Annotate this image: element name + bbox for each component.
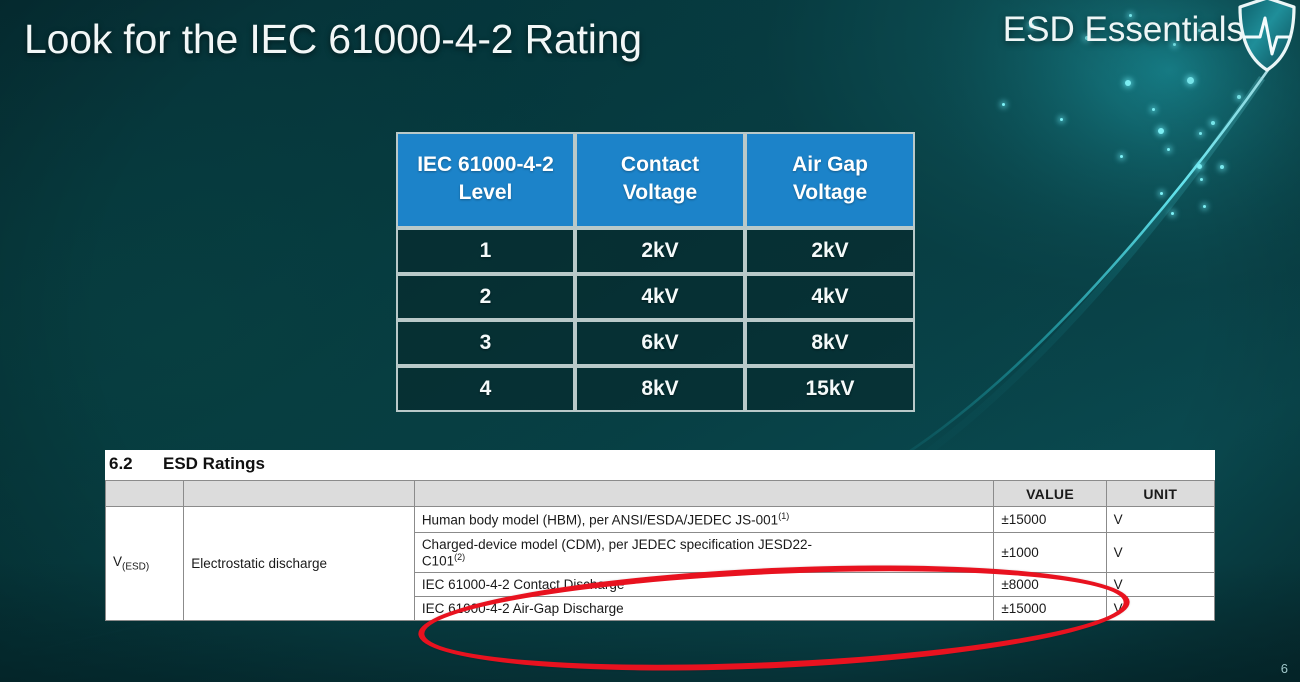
header-cell-level: IEC 61000-4-2 Level <box>396 132 575 228</box>
cell-condition: IEC 61000-4-2 Air-Gap Discharge <box>414 597 994 621</box>
cell-level: 2 <box>396 274 575 320</box>
condition-text: Charged-device model (CDM), per JEDEC sp… <box>422 537 812 552</box>
cell-symbol: V(ESD) <box>106 507 184 621</box>
shield-pulse-icon <box>1236 0 1298 74</box>
esd-ratings-table: VALUE UNIT V(ESD) Electrostatic discharg… <box>105 480 1215 621</box>
cell-unit: V <box>1106 597 1214 621</box>
symbol-subscript: (ESD) <box>122 562 149 573</box>
condition-text: Human body model (HBM), per ANSI/ESDA/JE… <box>422 513 778 528</box>
cell-level: 4 <box>396 366 575 412</box>
cell-air-gap-voltage: 2kV <box>745 228 915 274</box>
table-row: 2 4kV 4kV <box>396 274 915 320</box>
cell-contact-voltage: 4kV <box>575 274 745 320</box>
cell-contact-voltage: 2kV <box>575 228 745 274</box>
cell-condition: Charged-device model (CDM), per JEDEC sp… <box>414 532 994 573</box>
condition-footnote: (1) <box>778 511 789 521</box>
header-cell-unit: UNIT <box>1106 481 1214 507</box>
header-cell-air-gap-voltage: Air Gap Voltage <box>745 132 915 228</box>
section-number: 6.2 <box>109 454 163 474</box>
cell-contact-voltage: 6kV <box>575 320 745 366</box>
header-cell-contact-voltage: Contact Voltage <box>575 132 745 228</box>
esd-table-head: VALUE UNIT <box>106 481 1215 507</box>
cell-level: 1 <box>396 228 575 274</box>
cell-condition: IEC 61000-4-2 Contact Discharge <box>414 573 994 597</box>
header-cell-value: VALUE <box>994 481 1106 507</box>
level-table-head: IEC 61000-4-2 Level Contact Voltage Air … <box>396 132 915 228</box>
table-header-row: VALUE UNIT <box>106 481 1215 507</box>
brand-label: ESD Essentials <box>1003 10 1244 50</box>
cell-condition: Human body model (HBM), per ANSI/ESDA/JE… <box>414 507 994 533</box>
header-line-1: Air Gap <box>751 151 909 179</box>
cell-value: ±1000 <box>994 532 1106 573</box>
cell-value: ±8000 <box>994 573 1106 597</box>
page-title: Look for the IEC 61000-4-2 Rating <box>24 16 642 63</box>
condition-footnote: (2) <box>454 552 465 562</box>
header-line-2: Voltage <box>751 179 909 207</box>
slide: Look for the IEC 61000-4-2 Rating ESD Es… <box>0 0 1300 682</box>
esd-table-body: V(ESD) Electrostatic discharge Human bod… <box>106 507 1215 621</box>
level-table-body: 1 2kV 2kV 2 4kV 4kV 3 6kV 8kV 4 8kV 15kV <box>396 228 915 412</box>
header-line-1: IEC 61000-4-2 <box>402 151 569 179</box>
cell-air-gap-voltage: 8kV <box>745 320 915 366</box>
section-title: ESD Ratings <box>163 454 265 473</box>
datasheet-excerpt: 6.2ESD Ratings VALUE UNIT V(ESD) Electro… <box>105 450 1215 621</box>
header-line-2: Level <box>402 179 569 207</box>
cell-unit: V <box>1106 507 1214 533</box>
table-row: V(ESD) Electrostatic discharge Human bod… <box>106 507 1215 533</box>
condition-text-line2: C101 <box>422 553 454 568</box>
cell-value: ±15000 <box>994 597 1106 621</box>
header-line-2: Voltage <box>581 179 739 207</box>
table-row: 3 6kV 8kV <box>396 320 915 366</box>
cell-unit: V <box>1106 532 1214 573</box>
symbol-base: V <box>113 554 122 569</box>
cell-level: 3 <box>396 320 575 366</box>
header-line-1: Contact <box>581 151 739 179</box>
page-number: 6 <box>1281 661 1288 676</box>
cell-air-gap-voltage: 15kV <box>745 366 915 412</box>
iec-level-table: IEC 61000-4-2 Level Contact Voltage Air … <box>396 132 915 412</box>
table-row: 4 8kV 15kV <box>396 366 915 412</box>
datasheet-section-heading: 6.2ESD Ratings <box>105 450 1215 480</box>
cell-parameter: Electrostatic discharge <box>184 507 415 621</box>
cell-contact-voltage: 8kV <box>575 366 745 412</box>
cell-value: ±15000 <box>994 507 1106 533</box>
table-header-row: IEC 61000-4-2 Level Contact Voltage Air … <box>396 132 915 228</box>
header-cell-parameter <box>184 481 415 507</box>
table-row: 1 2kV 2kV <box>396 228 915 274</box>
header-cell-symbol <box>106 481 184 507</box>
header-cell-condition <box>414 481 994 507</box>
cell-air-gap-voltage: 4kV <box>745 274 915 320</box>
cell-unit: V <box>1106 573 1214 597</box>
